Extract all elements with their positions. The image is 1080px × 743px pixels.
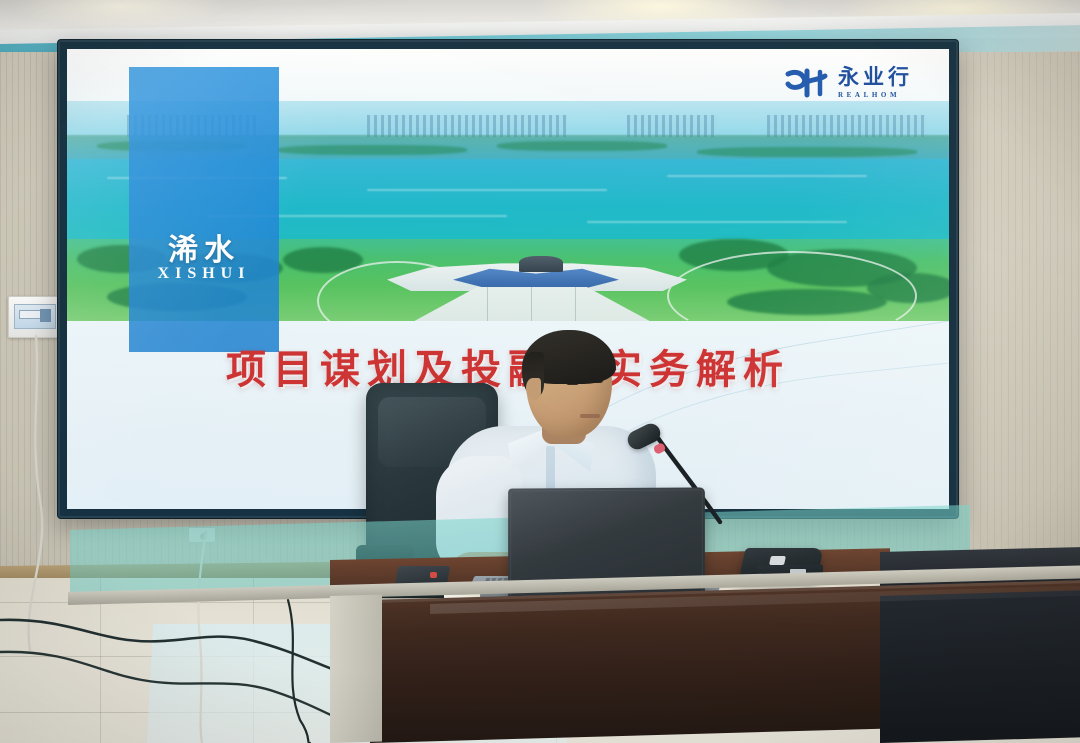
civic-building-wings [387,261,687,291]
lake [67,159,949,245]
logo-text-en: REALHOM [838,91,913,99]
control-unit-led-icon [430,572,437,578]
logo-text-cn: 永业行 [838,67,913,88]
location-tag-panel [129,67,279,352]
yh-monogram-icon [785,68,829,98]
far-shoreline [67,135,949,161]
location-name-pinyin: XISHUI [129,265,279,283]
presenter-ear [526,378,541,400]
civic-building-roof [453,267,619,289]
desk-front-panel-right [880,590,1080,743]
microphone-base-led-icon [769,556,786,565]
slide-photo [67,101,949,323]
conference-room-photo: 浠水 XISHUI 永业行 REALHOM [0,0,1080,743]
location-name-cn: 浠水 [129,225,279,269]
plaza [407,287,657,323]
sky [67,101,949,137]
presenter-mouth [580,414,600,418]
near-shoreline [67,239,949,323]
company-logo: 永业行 REALHOM [785,63,913,103]
desk-side-panel [330,595,382,743]
civic-building-core [519,256,563,272]
slide-header-band [67,49,949,103]
